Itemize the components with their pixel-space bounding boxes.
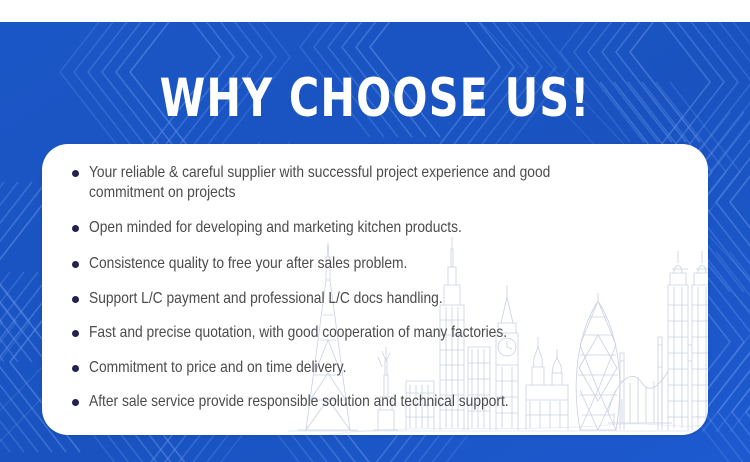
bullet-dot-icon xyxy=(72,170,79,177)
bullet-dot-icon xyxy=(72,399,79,406)
bullet-dot-icon xyxy=(72,261,79,268)
blue-background-panel: WHY CHOOSE US! xyxy=(0,22,750,462)
bullet-text: Your reliable & careful supplier with su… xyxy=(89,163,616,202)
bullet-dot-icon xyxy=(72,296,79,303)
top-white-strip xyxy=(0,0,750,22)
benefits-bullet-list: Your reliable & careful supplier with su… xyxy=(42,144,708,435)
bullet-dot-icon xyxy=(72,365,79,372)
why-choose-us-banner: WHY CHOOSE US! xyxy=(0,0,750,462)
bullet-reliable-supplier: Your reliable & careful supplier with su… xyxy=(72,163,684,202)
bullet-consistence-quality: Consistence quality to free your after s… xyxy=(72,254,684,274)
bullet-text: Support L/C payment and professional L/C… xyxy=(89,289,616,309)
bullet-dot-icon xyxy=(72,330,79,337)
benefits-card: Your reliable & careful supplier with su… xyxy=(42,144,708,435)
bullet-text: After sale service provide responsible s… xyxy=(89,392,616,412)
bullet-dot-icon xyxy=(72,225,79,232)
page-title: WHY CHOOSE US! xyxy=(83,71,668,127)
bullet-fast-quotation: Fast and precise quotation, with good co… xyxy=(72,323,684,343)
bullet-text: Consistence quality to free your after s… xyxy=(89,254,616,274)
bullet-text: Open minded for developing and marketing… xyxy=(89,218,616,238)
bullet-price-commitment: Commitment to price and on time delivery… xyxy=(72,358,684,378)
bullet-text: Commitment to price and on time delivery… xyxy=(89,358,616,378)
bullet-lc-payment: Support L/C payment and professional L/C… xyxy=(72,289,684,309)
bullet-open-minded: Open minded for developing and marketing… xyxy=(72,218,684,238)
bullet-after-sale-service: After sale service provide responsible s… xyxy=(72,392,684,412)
bullet-text: Fast and precise quotation, with good co… xyxy=(89,323,616,343)
